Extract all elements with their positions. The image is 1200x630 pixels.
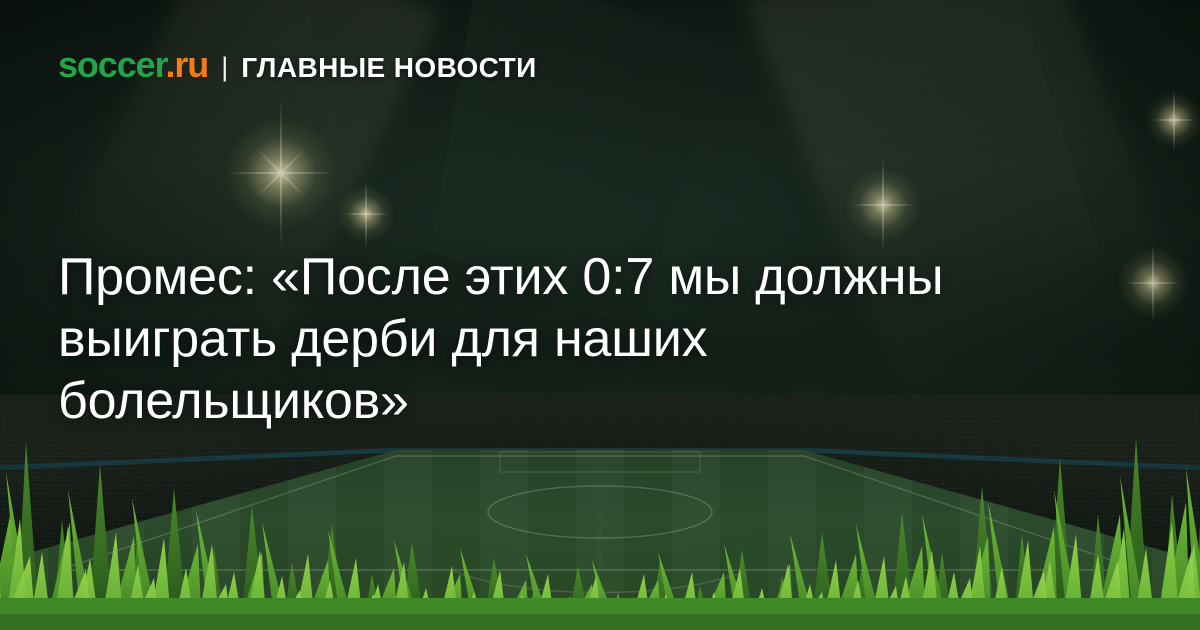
floodlight-star-icon-corner [1146,92,1200,148]
brand-divider: | [221,54,228,81]
floodlight-star-icon-small-left [338,186,394,242]
logo-text-soccer: soccer [58,44,166,85]
page-title: Промес: «После этих 0:7 мы должны выигра… [58,247,1148,433]
site-logo[interactable]: soccer.ru [58,47,208,83]
grass-blades-icon [0,402,1200,630]
logo-text-ru: .ru [166,44,209,85]
headline-line-3: болельщиков» [58,371,1148,433]
headline-line-1: Промес: «После этих 0:7 мы должны [58,247,1148,309]
floodlight-star-icon-right [846,168,920,242]
section-label: ГЛАВНЫЕ НОВОСТИ [241,54,536,82]
headline-line-2: выиграть дерби для наших [58,309,1148,371]
floodlight-star-icon [226,118,336,228]
news-cover-card: soccer.ru | ГЛАВНЫЕ НОВОСТИ Промес: «Пос… [0,0,1200,630]
brand-bar[interactable]: soccer.ru | ГЛАВНЫЕ НОВОСТИ [58,47,537,83]
